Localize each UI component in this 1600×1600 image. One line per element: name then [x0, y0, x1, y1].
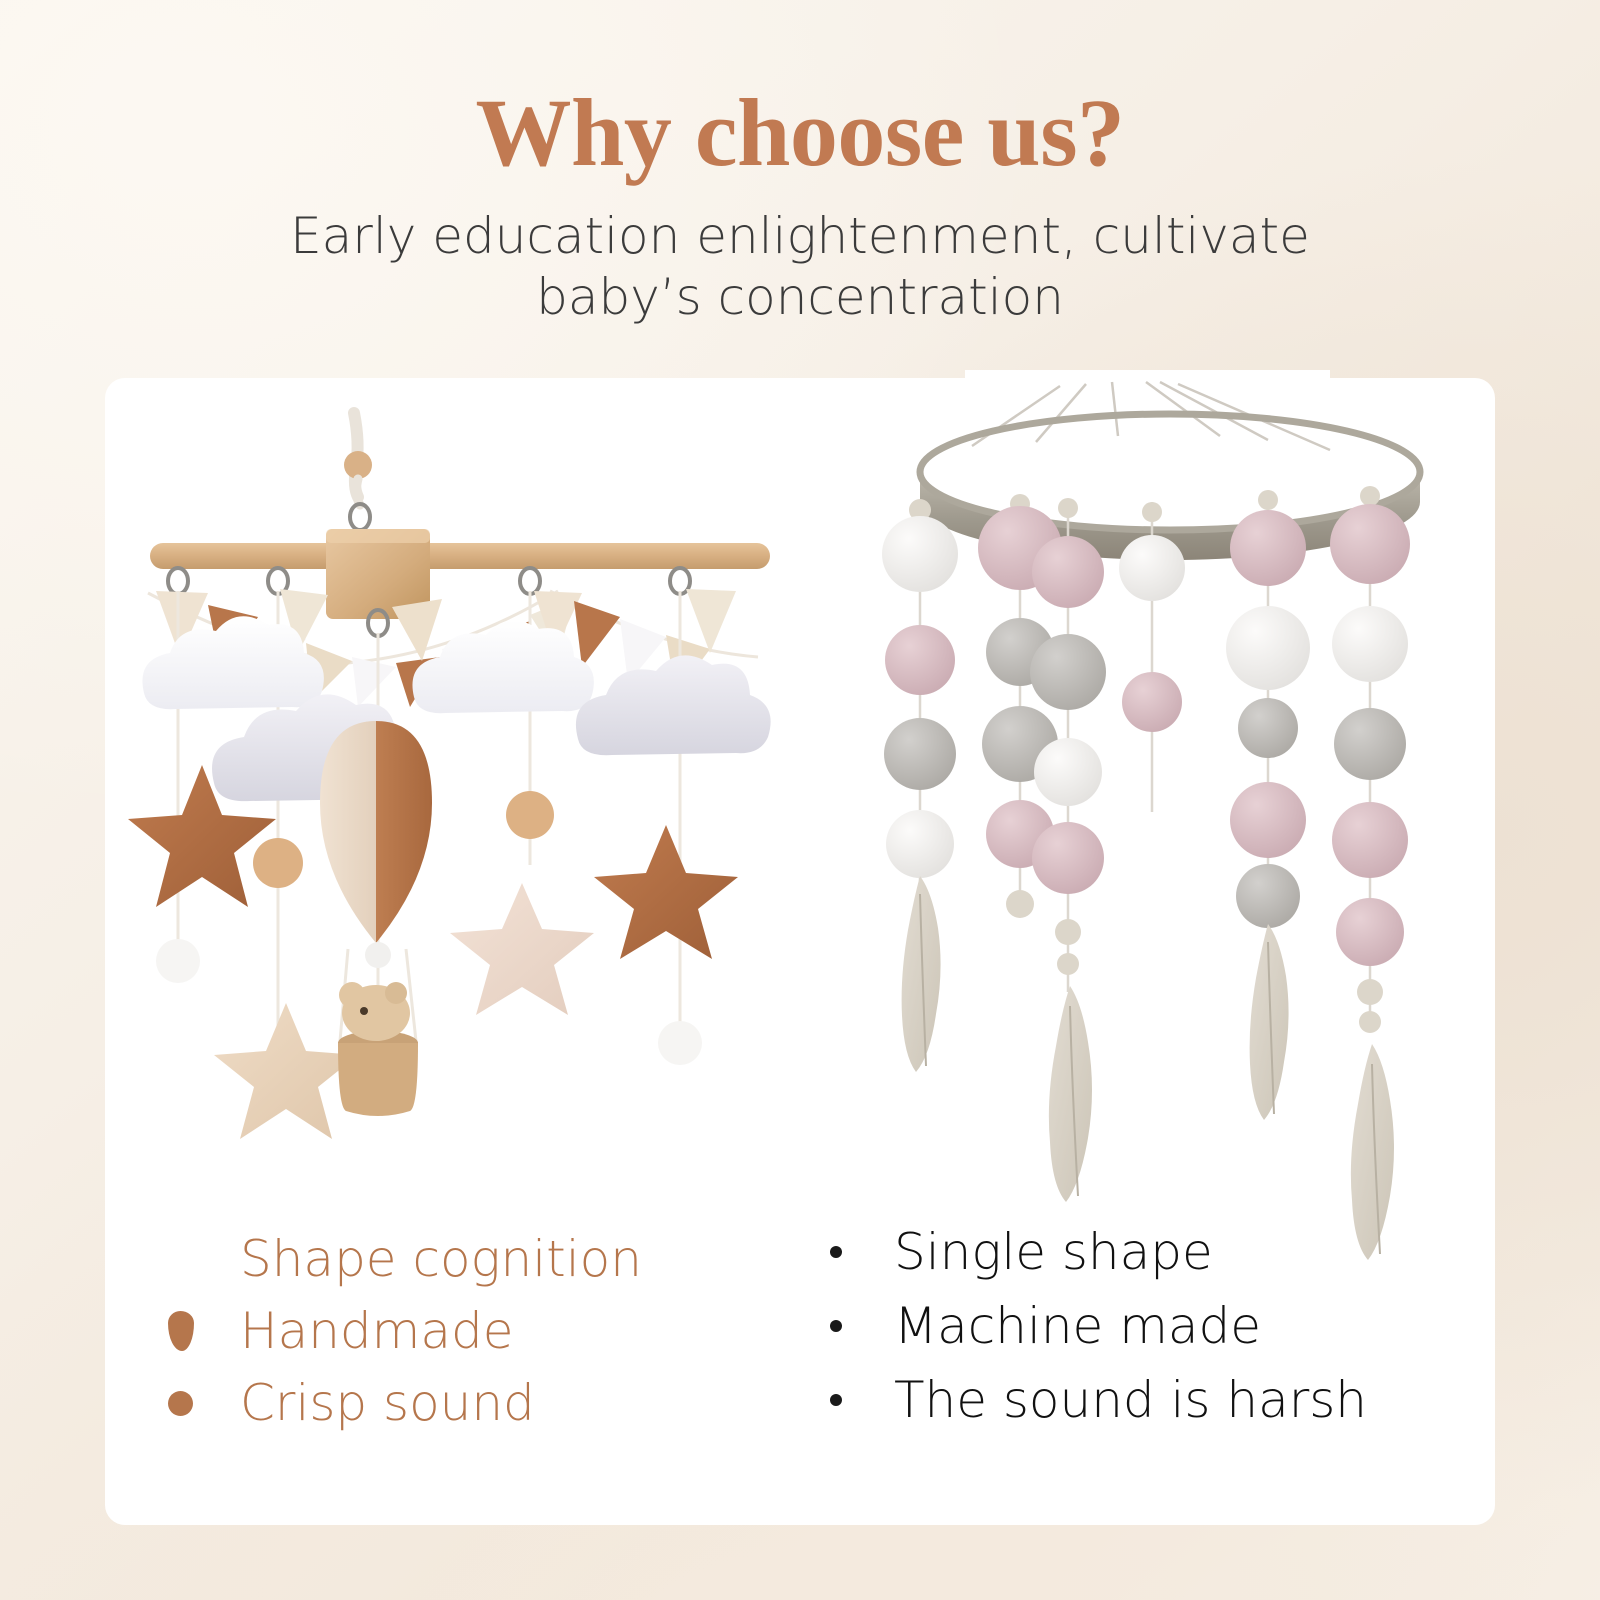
ball-strand-center [1119, 502, 1185, 812]
header: Why choose us? Early education enlighten… [0, 0, 1600, 328]
ball-strand-5 [1330, 486, 1410, 1260]
feature-label: The sound is harsh [894, 1373, 1367, 1427]
page-title: Why choose us? [0, 0, 1600, 184]
wooden-feather-icon [1250, 924, 1289, 1120]
bullet-dot-icon [830, 1320, 842, 1332]
feature-label: Crisp sound [240, 1376, 535, 1430]
subtitle-line-2: baby’s concentration [536, 268, 1064, 326]
infographic-page: Why choose us? Early education enlighten… [0, 0, 1600, 1600]
feature-label: Shape cognition [240, 1232, 642, 1286]
feature-label: Machine made [894, 1299, 1261, 1353]
feature-label: Handmade [240, 1304, 514, 1358]
felt-stars [128, 765, 738, 1139]
feature-item-handmade: Handmade [168, 1304, 768, 1358]
feature-item-machine-made: Machine made [822, 1299, 1462, 1353]
teddy-bear-icon [339, 982, 410, 1041]
bullet-dot-icon [830, 1246, 842, 1258]
bullet-slot [822, 1320, 894, 1332]
feature-label: Single shape [894, 1225, 1213, 1279]
product-image-machine-mobile [860, 372, 1480, 1162]
ball-strand-4 [1226, 490, 1310, 1120]
feature-list-cons: Single shape Machine made The sound is h… [822, 1225, 1462, 1447]
feature-item-shape-cognition: Shape cognition [168, 1232, 768, 1286]
bullet-slot [822, 1394, 894, 1406]
feature-list-pros: Shape cognition Handmade Crisp sound [168, 1232, 768, 1448]
bullet-slot [168, 1391, 240, 1416]
feature-item-single-shape: Single shape [822, 1225, 1462, 1279]
product-image-handmade-mobile [130, 395, 790, 1155]
bullet-dot-icon [830, 1394, 842, 1406]
bullet-dot-icon [168, 1391, 193, 1416]
bullet-blob-icon [168, 1311, 194, 1351]
bullet-slot [822, 1246, 894, 1258]
ball-strand-3 [1030, 498, 1106, 1202]
mobile-hanger [344, 413, 372, 530]
subtitle-line-1: Early education enlightenment, cultivate [290, 207, 1310, 265]
wooden-crossbar [150, 529, 770, 619]
feature-item-sound-is-harsh: The sound is harsh [822, 1373, 1462, 1427]
wooden-feather-icon [902, 876, 941, 1072]
page-subtitle: Early education enlightenment, cultivate… [0, 184, 1600, 328]
feature-item-crisp-sound: Crisp sound [168, 1376, 768, 1430]
ball-strand-1 [882, 499, 958, 1072]
bullet-slot [168, 1311, 240, 1351]
